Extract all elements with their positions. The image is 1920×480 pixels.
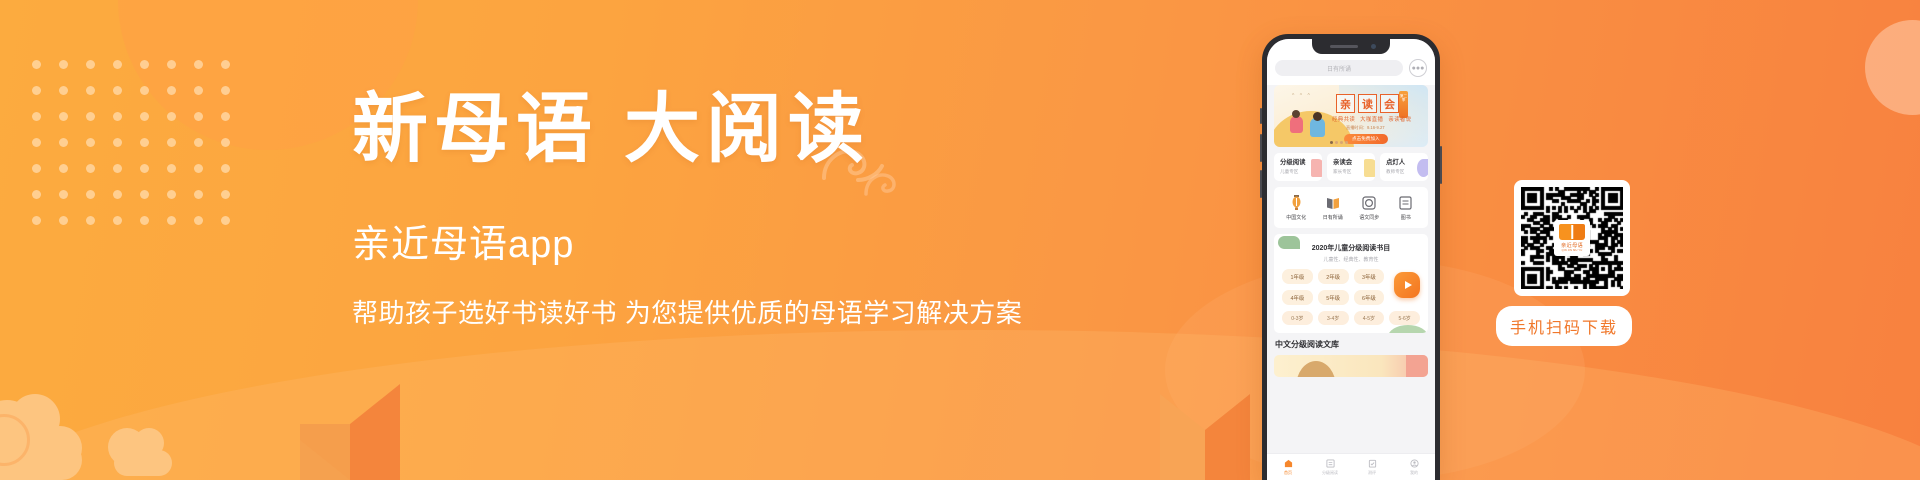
quick-link-chinese-culture[interactable]: 中国文化 [1278, 195, 1315, 221]
decorative-cloud-small [108, 414, 188, 476]
brand-name-pinyin: QIN JIN MU YU [1562, 249, 1583, 252]
zone-card-teacher[interactable]: 点灯人 教师专区 [1380, 153, 1428, 181]
decorative-cloud-large [0, 370, 126, 480]
phone-notch [1312, 39, 1390, 54]
decorative-hill [0, 330, 1920, 480]
promo-subtitle-item: 亲读者说 [1388, 115, 1411, 123]
book-icon [1388, 195, 1425, 210]
tab-graded-reading[interactable]: 分级阅读 [1309, 458, 1351, 476]
grade-chip[interactable]: 5年级 [1318, 290, 1349, 305]
qr-download-block: 亲近母语 QIN JIN MU YU 手机扫码下载 [1496, 180, 1648, 346]
promo-title-char: 亲 [1336, 94, 1355, 113]
lantern-icon [1278, 195, 1315, 210]
library-section-title: 中文分级阅读文库 [1275, 339, 1428, 350]
promo-subtitle-item: 经典共读 [1332, 115, 1355, 123]
promo-child-illustration-2 [1310, 118, 1325, 137]
phone-power-button [1440, 146, 1442, 184]
grade-chip[interactable]: 1年级 [1282, 269, 1313, 284]
decorative-circle-top-right [1865, 20, 1920, 115]
tagline: 帮助孩子选好书读好书 为您提供优质的母语学习解决方案 [352, 300, 1032, 326]
decorative-dot-grid [32, 60, 248, 242]
brand-name: 亲近母语 [1561, 242, 1583, 249]
message-icon[interactable]: ●●● [1409, 59, 1427, 77]
phone-mockup: 日有所诵 ●●● ^ ^ ^ 亲 读 会 第二季 [1262, 34, 1440, 480]
hero-copy: 新母语大阅读 亲近母语app 帮助孩子选好书读好书 为您提供优质的母语学习解决方… [352, 92, 1032, 326]
promo-card[interactable]: ^ ^ ^ 亲 读 会 第二季 经典共读 大咖直播 亲读者说 直播时间：9.16 [1274, 85, 1428, 147]
age-chip-row: 0-3岁 3-4岁 4-5岁 5-6岁 [1282, 311, 1420, 325]
camera-icon [1371, 44, 1376, 49]
speaker-icon [1330, 45, 1358, 48]
tab-label: 首页 [1267, 470, 1309, 476]
home-icon [1267, 458, 1309, 469]
decorative-cube-left [300, 384, 400, 480]
library-accent-block [1406, 355, 1428, 377]
promo-subtitle: 经典共读 大咖直播 亲读者说 [1332, 115, 1412, 123]
book-open-icon [1315, 195, 1352, 210]
library-card[interactable] [1274, 355, 1428, 377]
quick-link-label: 中国文化 [1278, 214, 1315, 221]
grade-section-subtitle: 儿童性、经典性、教育性 [1282, 256, 1420, 263]
grade-section: 2020年儿童分级阅读书目 儿童性、经典性、教育性 1年级 2年级 3年级 4年… [1274, 234, 1428, 333]
phone-volume-up-button [1260, 134, 1262, 162]
grade-chip[interactable]: 4年级 [1282, 290, 1313, 305]
tab-assessment[interactable]: 测评 [1351, 458, 1393, 476]
tab-label: 分级阅读 [1309, 470, 1351, 476]
phone-mute-switch [1260, 108, 1262, 124]
quick-link-row: 中国文化 日有所诵 [1274, 187, 1428, 228]
grade-chip[interactable]: 2年级 [1318, 269, 1349, 284]
tab-home[interactable]: 首页 [1267, 458, 1309, 476]
grade-section-title: 2020年儿童分级阅读书目 [1282, 243, 1420, 253]
decorative-cube-right [1160, 394, 1250, 480]
video-play-icon[interactable] [1394, 272, 1420, 298]
carousel-dots[interactable] [1330, 141, 1348, 144]
tab-label: 测评 [1351, 470, 1393, 476]
bottom-tab-bar: 首页 分级阅读 [1267, 453, 1435, 480]
bookmark-icon [1364, 159, 1375, 177]
quick-link-label: 日有所诵 [1315, 214, 1352, 221]
tab-label: 我的 [1393, 470, 1435, 476]
quick-link-daily-recitation[interactable]: 日有所诵 [1315, 195, 1352, 221]
open-book-icon [1559, 224, 1585, 240]
age-chip[interactable]: 5-6岁 [1389, 311, 1420, 325]
search-input[interactable]: 日有所诵 [1275, 60, 1403, 76]
quick-link-books[interactable]: 图书 [1388, 195, 1425, 221]
promo-subtitle-item: 大咖直播 [1360, 115, 1383, 123]
promo-title-char: 会 [1380, 94, 1399, 113]
app-name: 亲近母语app [352, 226, 1032, 264]
leaf-decoration-icon [1278, 236, 1300, 249]
circle-sync-icon [1351, 195, 1388, 210]
zone-card-graded-reading[interactable]: 分级阅读 儿童专区 [1274, 153, 1322, 181]
cloud-shape-icon [1417, 159, 1428, 177]
grade-chip[interactable]: 6年级 [1354, 290, 1385, 305]
promo-date: 直播时间：9.16-9.27 [1346, 125, 1385, 131]
scan-to-download-button[interactable]: 手机扫码下载 [1496, 306, 1632, 346]
promo-title: 亲 读 会 [1336, 94, 1399, 113]
brand-logo: 亲近母语 QIN JIN MU YU [1554, 220, 1590, 256]
age-chip[interactable]: 0-3岁 [1282, 311, 1313, 325]
phone-screen: 日有所诵 ●●● ^ ^ ^ 亲 读 会 第二季 [1267, 39, 1435, 480]
page-title: 新母语大阅读 [352, 92, 1032, 168]
age-chip[interactable]: 4-5岁 [1354, 311, 1385, 325]
user-icon [1393, 458, 1435, 469]
promo-join-button[interactable]: 点击免费加入 [1344, 134, 1388, 144]
promo-title-char: 读 [1358, 94, 1377, 113]
list-icon [1309, 458, 1351, 469]
library-illustration [1296, 361, 1336, 377]
quick-link-label: 图书 [1388, 214, 1425, 221]
quick-link-label: 语文同步 [1351, 214, 1388, 221]
headline-left: 新母语 [352, 88, 598, 172]
zone-card-parent-club[interactable]: 亲读会 家长专区 [1327, 153, 1375, 181]
clipboard-icon [1351, 458, 1393, 469]
qr-code: 亲近母语 QIN JIN MU YU [1514, 180, 1630, 296]
quick-link-textbook-sync[interactable]: 语文同步 [1351, 195, 1388, 221]
promo-child-illustration-1 [1290, 116, 1303, 133]
app-content: ^ ^ ^ 亲 读 会 第二季 经典共读 大咖直播 亲读者说 直播时间：9.16 [1267, 85, 1435, 377]
bookmark-icon [1311, 159, 1322, 177]
tab-profile[interactable]: 我的 [1393, 458, 1435, 476]
headline-right: 大阅读 [624, 88, 870, 172]
promo-season-flag: 第二季 [1399, 91, 1408, 118]
grade-chip[interactable]: 3年级 [1354, 269, 1385, 284]
zone-card-row: 分级阅读 儿童专区 亲读会 家长专区 点灯人 教师专区 [1274, 153, 1428, 181]
leaf-decoration-icon [1388, 325, 1428, 333]
promo-birds-icon: ^ ^ ^ [1292, 93, 1312, 99]
phone-volume-down-button [1260, 170, 1262, 198]
age-chip[interactable]: 3-4岁 [1318, 311, 1349, 325]
promo-banner: 新母语大阅读 亲近母语app 帮助孩子选好书读好书 为您提供优质的母语学习解决方… [0, 0, 1920, 480]
